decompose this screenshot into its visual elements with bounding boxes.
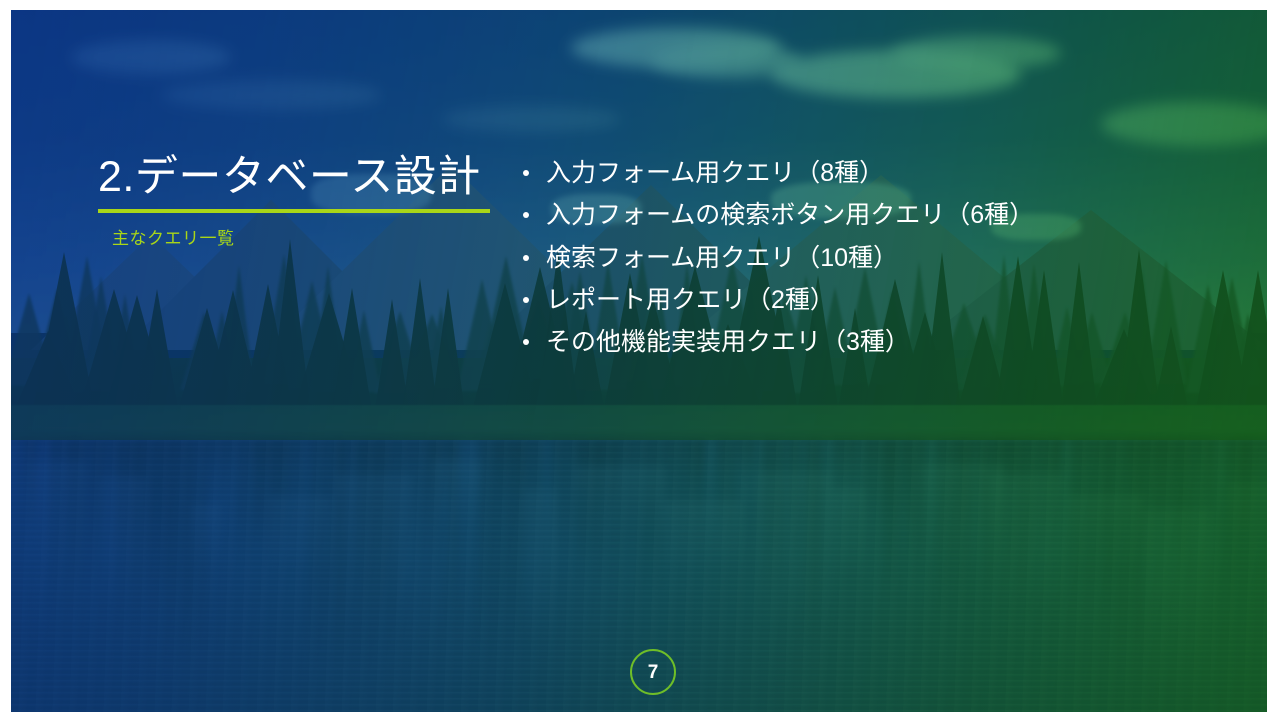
page-number-text: 7 <box>648 663 659 682</box>
list-item: 検索フォーム用クエリ（10種） <box>516 244 1256 273</box>
list-item-label: レポート用クエリ（2種） <box>546 286 835 314</box>
page-subtitle: 主なクエリ一覧 <box>112 224 498 249</box>
list-item-label: 入力フォームの検索ボタン用クエリ（6種） <box>546 201 1034 229</box>
list-item-label: 入力フォーム用クエリ（8種） <box>546 159 884 187</box>
bullet-dot-icon <box>523 170 529 176</box>
list-item-label: 検索フォーム用クエリ（10種） <box>546 244 898 272</box>
bullet-dot-icon <box>523 297 529 303</box>
title-block: 2.データベース設計 主なクエリ一覧 <box>98 153 498 249</box>
list-item: その他機能実装用クエリ（3種） <box>516 328 1256 357</box>
list-item-label: その他機能実装用クエリ（3種） <box>546 328 910 356</box>
presentation-slide: 2.データベース設計 主なクエリ一覧 入力フォーム用クエリ（8種）入力フォームの… <box>0 0 1280 720</box>
list-item: 入力フォームの検索ボタン用クエリ（6種） <box>516 201 1256 230</box>
bullet-dot-icon <box>523 339 529 345</box>
bullet-dot-icon <box>523 255 529 261</box>
list-item: 入力フォーム用クエリ（8種） <box>516 159 1256 188</box>
bullet-list: 入力フォーム用クエリ（8種）入力フォームの検索ボタン用クエリ（6種）検索フォーム… <box>516 159 1256 370</box>
title-accent-rule <box>98 209 490 213</box>
page-title: 2.データベース設計 <box>98 153 498 201</box>
page-number-badge: 7 <box>630 649 676 695</box>
list-item: レポート用クエリ（2種） <box>516 286 1256 315</box>
slide-background-frame: 2.データベース設計 主なクエリ一覧 入力フォーム用クエリ（8種）入力フォームの… <box>11 10 1267 712</box>
bullet-dot-icon <box>523 212 529 218</box>
slide-content: 2.データベース設計 主なクエリ一覧 入力フォーム用クエリ（8種）入力フォームの… <box>11 10 1267 712</box>
